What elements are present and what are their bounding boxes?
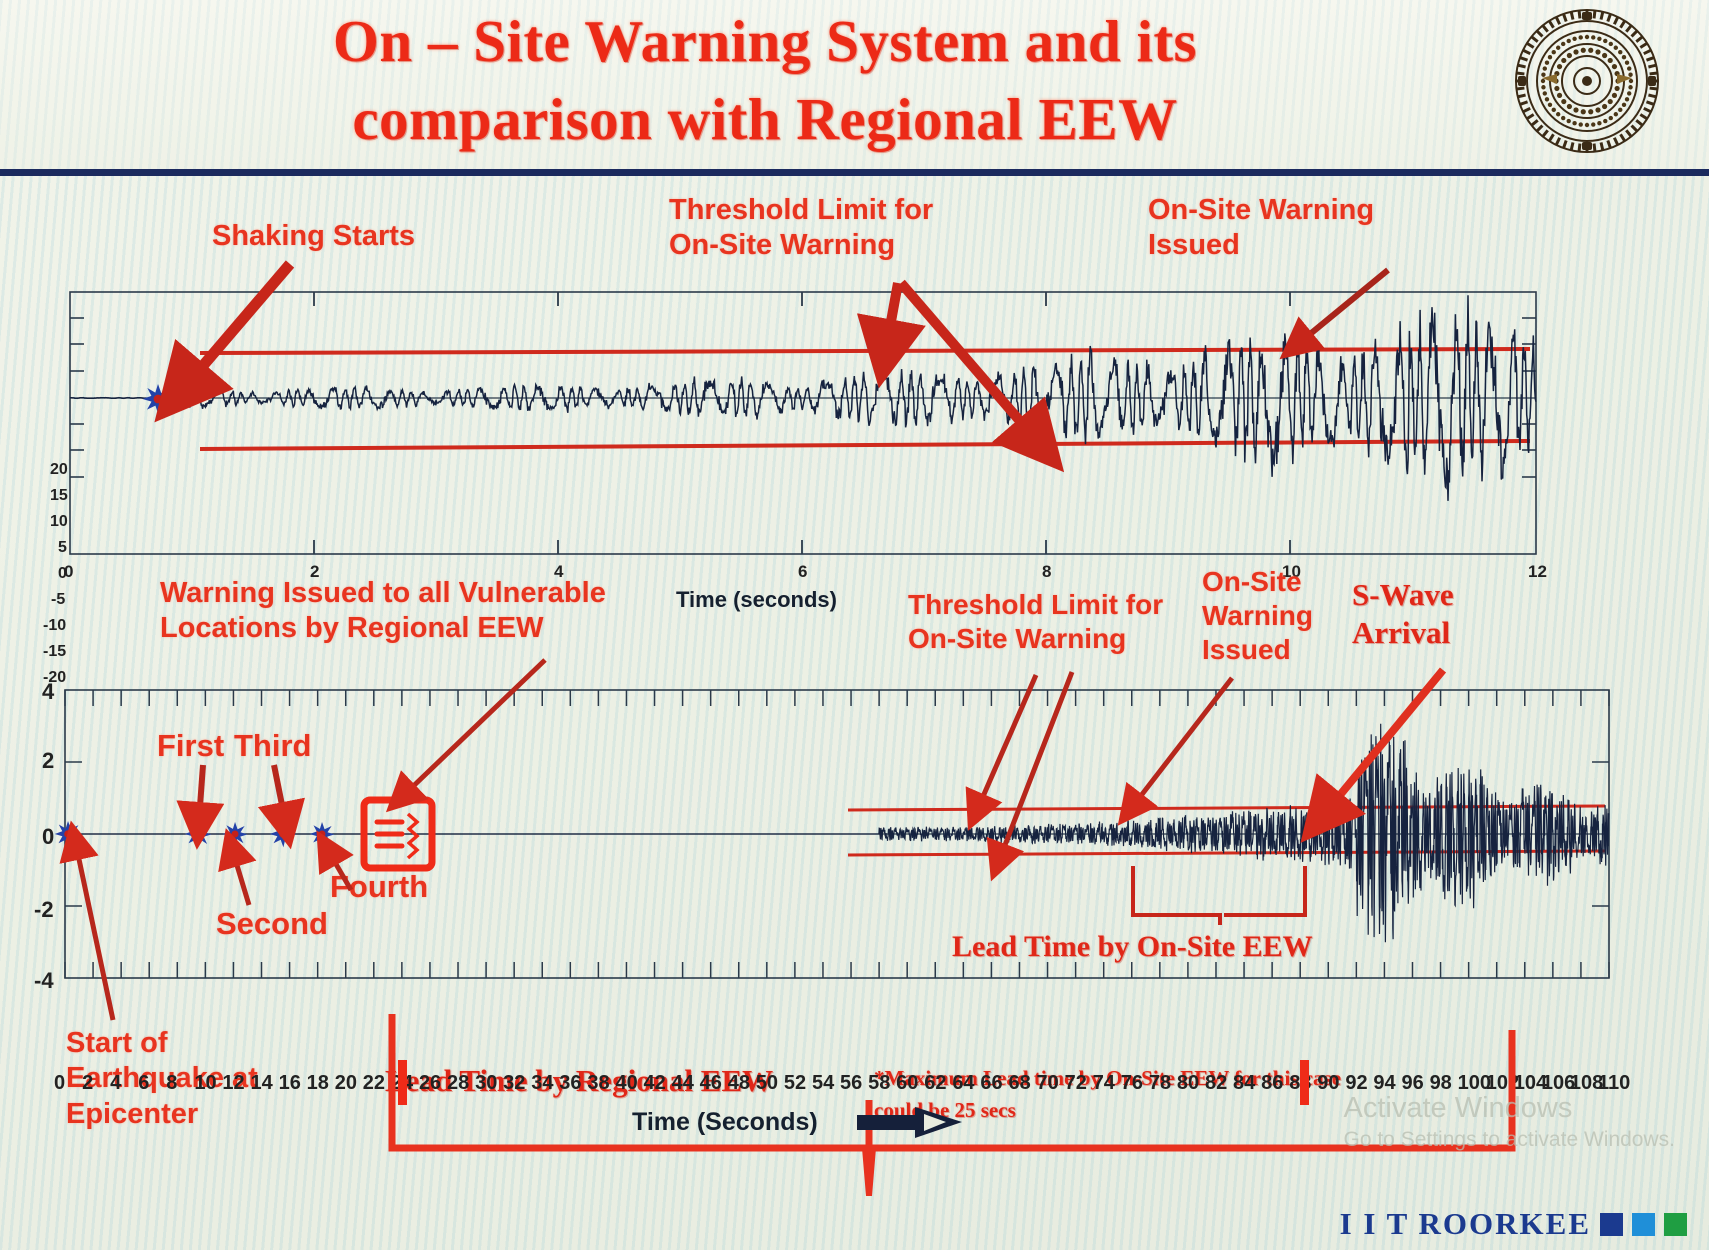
footer-square-1 (1600, 1213, 1623, 1236)
bottom-station-markers (55, 821, 335, 847)
bottom-xtick-26: 26 (419, 1072, 441, 1095)
arrow-first-station (199, 765, 203, 820)
annotation-s-wave-arrival: S-Wave Arrival (1352, 576, 1454, 652)
arrow-s-wave-arrival (1326, 670, 1443, 812)
bottom-xtick-30: 30 (475, 1072, 497, 1095)
top-ytick-20: 20 (50, 461, 68, 479)
page-title-line1: On – Site Warning System and its (120, 2, 1410, 80)
broadcast-warning-icon (364, 800, 432, 868)
iit-roorkee-emblem-icon (1512, 6, 1662, 156)
slide-canvas: On – Site Warning System and its compari… (0, 0, 1709, 1250)
bottom-xtick-64: 64 (952, 1072, 974, 1095)
bottom-ytick-m2: -2 (34, 897, 54, 923)
bottom-xtick-66: 66 (980, 1072, 1002, 1095)
top-ytick-10: 10 (50, 513, 68, 531)
bottom-xtick-2: 2 (82, 1072, 93, 1095)
top-ytick-15: 15 (50, 487, 68, 505)
top-chart-xlabel: Time (seconds) (676, 587, 837, 613)
bottom-xtick-36: 36 (559, 1072, 581, 1095)
bottom-xtick-80: 80 (1177, 1072, 1199, 1095)
bottom-xtick-12: 12 (222, 1072, 244, 1095)
bottom-xtick-88: 88 (1289, 1072, 1311, 1095)
bottom-xtick-68: 68 (1008, 1072, 1030, 1095)
bottom-xtick-82: 82 (1205, 1072, 1227, 1095)
bottom-ytick-2: 2 (42, 748, 54, 774)
arrow-on-site-warning-issued-bottom (1133, 678, 1232, 806)
annotation-fourth-station: Fourth (330, 868, 428, 906)
arrow-warning-issued-regional (404, 660, 545, 795)
annotation-threshold-limit-top: Threshold Limit for On-Site Warning (669, 193, 933, 264)
page-title-line2: comparison with Regional EEW (120, 80, 1410, 158)
bottom-xtick-20: 20 (335, 1072, 357, 1095)
bracket-lead-time-onsite (1133, 866, 1305, 925)
bottom-xtick-46: 46 (700, 1072, 722, 1095)
top-xtick-8: 8 (1042, 562, 1051, 582)
bottom-xtick-48: 48 (728, 1072, 750, 1095)
bottom-xtick-60: 60 (896, 1072, 918, 1095)
annotation-on-site-warning-issued-top: On-Site Warning Issued (1148, 193, 1374, 264)
bottom-xtick-76: 76 (1121, 1072, 1143, 1095)
bottom-xtick-40: 40 (615, 1072, 637, 1095)
bottom-xtick-0: 0 (54, 1072, 65, 1095)
bottom-xtick-90: 90 (1317, 1072, 1339, 1095)
bottom-xtick-8: 8 (166, 1072, 177, 1095)
annotation-warning-issued-regional: Warning Issued to all Vulnerable Locatio… (160, 576, 606, 647)
bottom-ytick-m4: -4 (34, 968, 54, 994)
arrow-start-of-earthquake (76, 845, 113, 1020)
annotation-on-site-warning-issued-bottom: On-Site Warning Issued (1202, 565, 1313, 667)
page-title: On – Site Warning System and its compari… (120, 2, 1410, 159)
bottom-xtick-10: 10 (194, 1072, 216, 1095)
bottom-ytick-0: 0 (42, 824, 54, 850)
bottom-xtick-16: 16 (279, 1072, 301, 1095)
watermark-line2: Go to Settings to activate Windows. (1344, 1127, 1676, 1154)
bottom-xtick-18: 18 (307, 1072, 329, 1095)
arrow-threshold-limit-bottom (978, 672, 1072, 858)
title-band: On – Site Warning System and its compari… (0, 0, 1709, 176)
bottom-xtick-56: 56 (840, 1072, 862, 1095)
top-ytick-5: 5 (58, 539, 67, 557)
bottom-chart-xlabel: Time (Seconds) (632, 1108, 818, 1137)
bottom-xtick-58: 58 (868, 1072, 890, 1095)
bottom-xtick-22: 22 (363, 1072, 385, 1095)
bottom-xtick-86: 86 (1261, 1072, 1283, 1095)
bottom-xtick-44: 44 (672, 1072, 694, 1095)
bracket-regional-drip (862, 1148, 876, 1196)
footer-square-3 (1664, 1213, 1687, 1236)
annotation-third-station: Third (234, 727, 312, 765)
bottom-xtick-14: 14 (251, 1072, 273, 1095)
bottom-xtick-62: 62 (924, 1072, 946, 1095)
bottom-xtick-38: 38 (587, 1072, 609, 1095)
top-xtick-12: 12 (1528, 562, 1547, 582)
top-xtick-6: 6 (798, 562, 807, 582)
top-ytick-m15: -15 (43, 643, 66, 661)
arrow-third-station (274, 765, 285, 820)
bottom-xtick-4: 4 (110, 1072, 121, 1095)
watermark-line1: Activate Windows (1344, 1090, 1676, 1127)
bottom-xtick-72: 72 (1065, 1072, 1087, 1095)
bottom-xtick-84: 84 (1233, 1072, 1255, 1095)
top-ytick-m10: -10 (43, 617, 66, 635)
bottom-xtick-50: 50 (756, 1072, 778, 1095)
bottom-xtick-52: 52 (784, 1072, 806, 1095)
annotation-second-station: Second (216, 905, 328, 943)
iit-roorkee-footer-brand: I I T ROORKEE (1340, 1206, 1687, 1242)
bottom-threshold-lines (848, 806, 1605, 855)
top-ytick-m5: -5 (51, 591, 65, 609)
bottom-xtick-54: 54 (812, 1072, 834, 1095)
arrow-second-station (233, 852, 249, 905)
bottom-xtick-6: 6 (138, 1072, 149, 1095)
annotation-first-station: First (157, 727, 224, 765)
bottom-xtick-70: 70 (1037, 1072, 1059, 1095)
footer-brand-text: I I T ROORKEE (1340, 1206, 1591, 1242)
annotation-threshold-limit-bottom: Threshold Limit for On-Site Warning (908, 588, 1163, 656)
footer-square-2 (1632, 1213, 1655, 1236)
top-xtick-0: 0 (64, 562, 73, 582)
bottom-xtick-32: 32 (503, 1072, 525, 1095)
bottom-ytick-4: 4 (42, 679, 54, 705)
bottom-xtick-24: 24 (391, 1072, 413, 1095)
bottom-xtick-42: 42 (644, 1072, 666, 1095)
bottom-xtick-34: 34 (531, 1072, 553, 1095)
annotation-lead-time-onsite: Lead Time by On-Site EEW (952, 929, 1313, 966)
bottom-xtick-78: 78 (1149, 1072, 1171, 1095)
activate-windows-watermark: Activate Windows Go to Settings to activ… (1344, 1090, 1676, 1154)
annotation-shaking-starts: Shaking Starts (212, 219, 415, 254)
bottom-xtick-28: 28 (447, 1072, 469, 1095)
bottom-xtick-74: 74 (1093, 1072, 1115, 1095)
